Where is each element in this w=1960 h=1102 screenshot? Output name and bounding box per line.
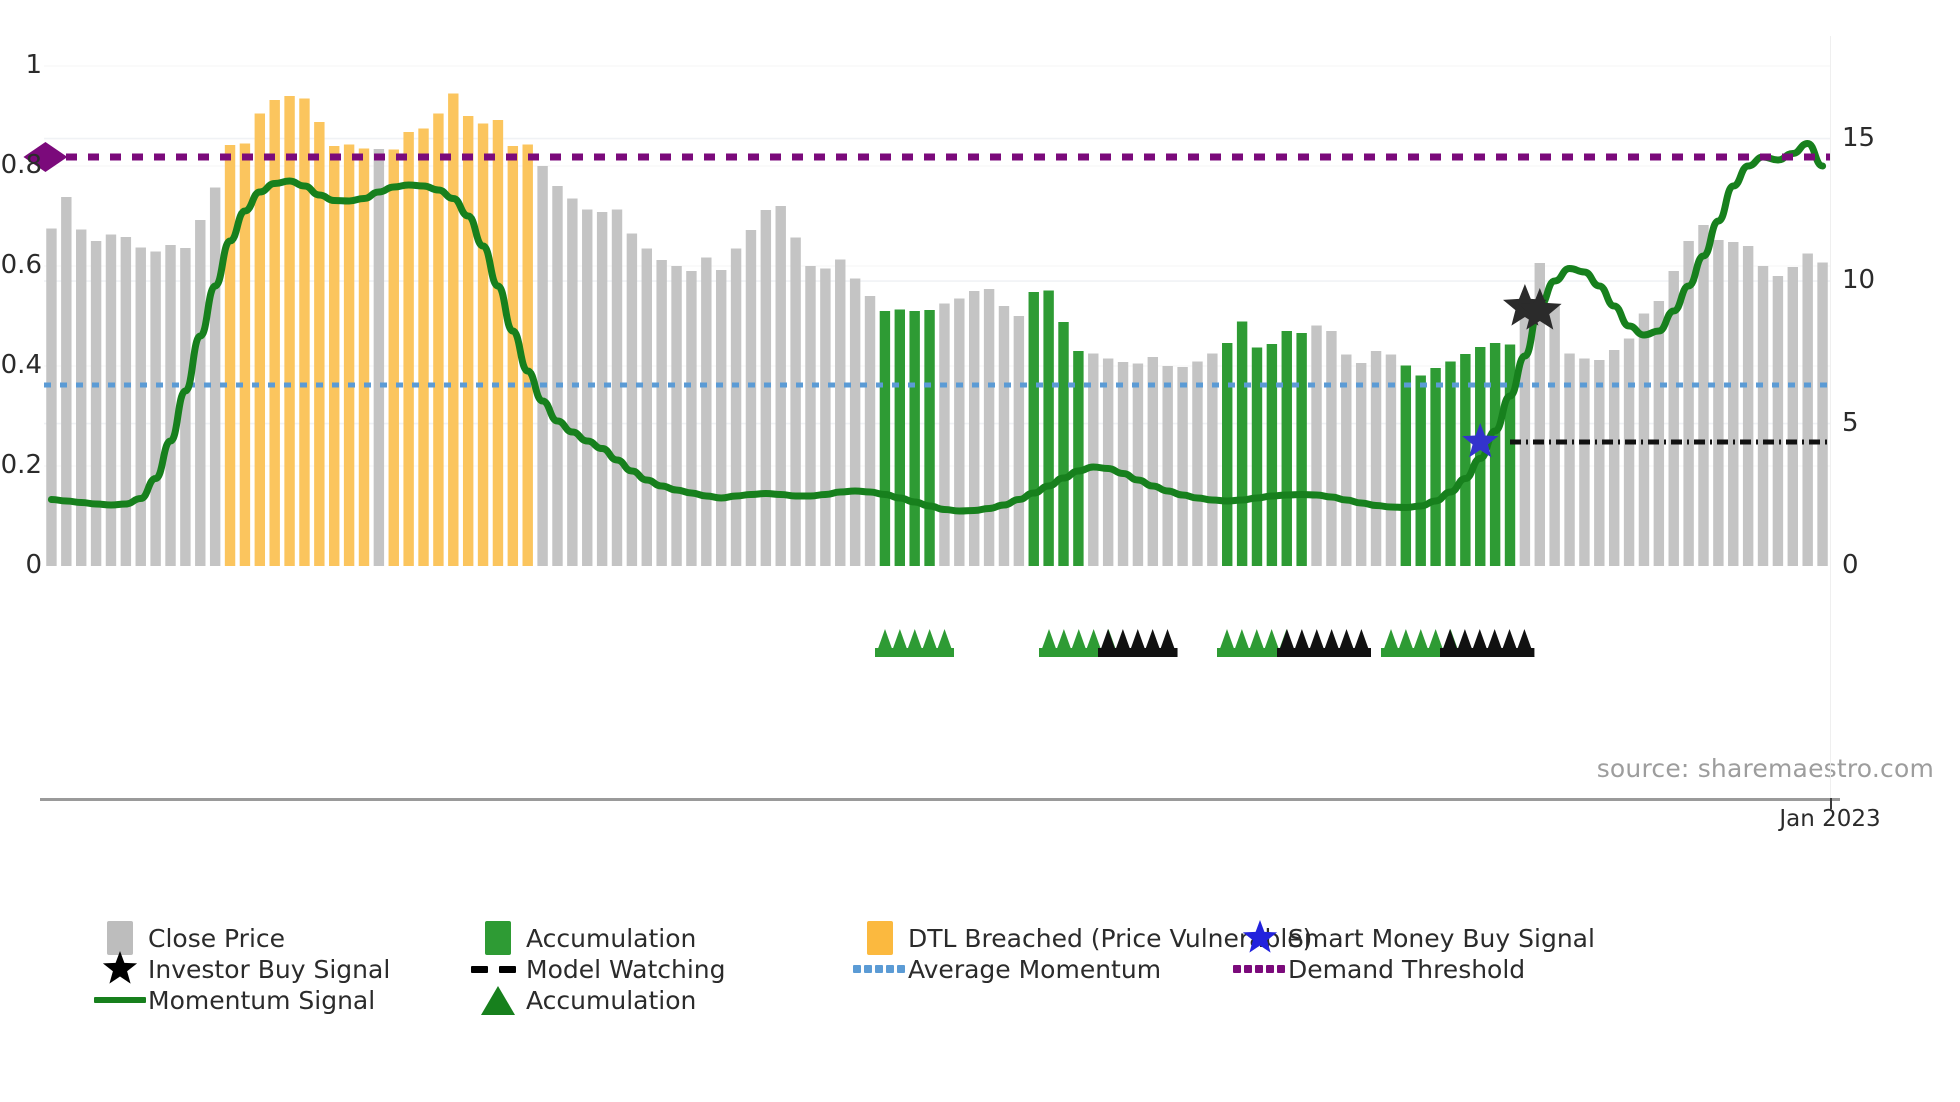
- price-bar: [1043, 291, 1053, 567]
- price-bar: [1267, 344, 1277, 566]
- price-bar: [761, 210, 771, 566]
- price-bar: [1058, 322, 1068, 566]
- price-bar: [850, 279, 860, 567]
- price-bar: [1743, 246, 1753, 566]
- y-axis-left-tick: 1: [0, 52, 42, 78]
- dotted-line-icon: [1232, 951, 1288, 987]
- price-bar: [656, 260, 666, 566]
- price-bar: [1579, 359, 1589, 567]
- price-bar: [1594, 360, 1604, 566]
- price-bar: [76, 230, 86, 567]
- price-bar: [1133, 364, 1143, 567]
- price-bar: [1624, 339, 1634, 567]
- price-bar: [269, 100, 279, 566]
- price-bar: [567, 199, 577, 567]
- price-bar: [731, 249, 741, 567]
- price-bar: [597, 212, 607, 566]
- price-bar: [746, 230, 756, 566]
- price-bar: [716, 270, 726, 566]
- price-bar: [418, 129, 428, 567]
- model-watching-triangle-group: [1098, 627, 1178, 661]
- price-bar: [136, 248, 146, 567]
- price-bar: [1609, 350, 1619, 566]
- price-bar: [1549, 306, 1559, 566]
- price-bar: [493, 120, 503, 566]
- price-bar: [820, 269, 830, 567]
- price-bar: [642, 249, 652, 567]
- price-bar: [225, 145, 235, 566]
- x-gridline: [1830, 36, 1831, 798]
- price-bar: [463, 116, 473, 566]
- model-watching-triangle-group: [1277, 627, 1371, 661]
- price-bar: [865, 296, 875, 566]
- y-axis-right-tick: 5: [1842, 410, 1859, 436]
- price-bar: [46, 229, 56, 567]
- y-axis-left-tick: 0.2: [0, 452, 42, 478]
- price-bar: [909, 311, 919, 566]
- price-bar: [329, 146, 339, 566]
- price-bar: [1802, 254, 1812, 567]
- y-axis-right-tick: 0: [1842, 552, 1859, 578]
- price-bar: [969, 291, 979, 566]
- price-bar: [121, 237, 131, 566]
- price-bar: [1029, 292, 1039, 566]
- y-axis-right-tick: 15: [1842, 125, 1875, 151]
- price-bar: [210, 188, 220, 567]
- price-bar: [880, 311, 890, 566]
- price-bar: [255, 114, 265, 567]
- chart-page: 00.20.40.60.81 051015 Jan 2023Jul 2023Ja…: [0, 0, 1960, 1102]
- price-bar: [389, 150, 399, 567]
- x-axis-tick-label: Jan 2023: [1779, 806, 1880, 832]
- price-bar: [895, 310, 905, 567]
- price-bar: [790, 238, 800, 567]
- price-bar: [552, 186, 562, 566]
- chart-svg: [44, 36, 1830, 566]
- y-axis-left-tick: 0.6: [0, 252, 42, 278]
- price-bar: [939, 304, 949, 567]
- price-bar: [1401, 366, 1411, 567]
- price-bar: [537, 166, 547, 566]
- price-bar: [299, 99, 309, 567]
- price-bar: [165, 245, 175, 566]
- plot-area: [44, 36, 1830, 566]
- price-bar: [150, 252, 160, 567]
- y-axis-left-tick: 0: [0, 552, 42, 578]
- price-bar: [1490, 343, 1500, 566]
- price-bar: [433, 114, 443, 567]
- price-bar: [1654, 301, 1664, 566]
- price-bar: [284, 96, 294, 566]
- price-bar: [344, 145, 354, 567]
- price-bar: [1148, 357, 1158, 566]
- price-bar: [403, 132, 413, 566]
- price-bar: [686, 271, 696, 566]
- price-bar: [1162, 366, 1172, 566]
- legend-label: Momentum Signal: [148, 986, 375, 1015]
- price-bar: [478, 124, 488, 567]
- price-bar: [1698, 225, 1708, 566]
- price-bar: [701, 258, 711, 567]
- price-bar: [627, 234, 637, 567]
- price-bar: [1177, 367, 1187, 566]
- price-bar: [374, 149, 384, 566]
- price-bar: [1728, 242, 1738, 566]
- price-bar: [1118, 362, 1128, 566]
- price-bar: [1296, 333, 1306, 566]
- dotted-line-icon: [852, 951, 908, 987]
- price-bar: [1356, 363, 1366, 566]
- price-bar: [582, 210, 592, 567]
- legend-demand-threshold[interactable]: Demand Threshold: [1232, 949, 1525, 989]
- x-axis-tick: [1830, 798, 1832, 809]
- legend-momentum-signal[interactable]: Momentum Signal: [92, 980, 375, 1020]
- price-bar: [999, 306, 1009, 566]
- price-bar: [359, 149, 369, 567]
- price-bar: [1430, 368, 1440, 566]
- y-axis-right-tick: 10: [1842, 267, 1875, 293]
- price-bar: [1252, 348, 1262, 567]
- price-bar: [508, 146, 518, 566]
- price-bar: [1311, 326, 1321, 567]
- price-bar: [1445, 362, 1455, 567]
- price-bar: [91, 241, 101, 566]
- price-bar: [1639, 314, 1649, 567]
- y-axis-left-tick: 0.8: [0, 152, 42, 178]
- price-bar: [1222, 343, 1232, 566]
- accumulation-triangle-group: [875, 627, 955, 661]
- price-bar: [1415, 376, 1425, 567]
- chart-legend: Close PriceAccumulationDTL Breached (Pri…: [0, 918, 1960, 1088]
- price-bar: [1758, 266, 1768, 566]
- legend-accumulation-triangle[interactable]: Accumulation: [470, 980, 696, 1020]
- price-bar: [1103, 359, 1113, 567]
- price-bar: [448, 94, 458, 567]
- price-bar: [671, 266, 681, 566]
- line-icon: [92, 982, 148, 1018]
- triangle-icon: [470, 982, 526, 1018]
- price-bar: [61, 197, 71, 566]
- legend-label: Accumulation: [526, 986, 696, 1015]
- price-bar: [314, 122, 324, 566]
- price-bar: [1014, 316, 1024, 566]
- price-bar: [1326, 331, 1336, 566]
- price-bar: [195, 220, 205, 566]
- price-bar: [612, 210, 622, 567]
- price-bar: [805, 266, 815, 566]
- price-bar: [1773, 276, 1783, 566]
- price-bar: [954, 299, 964, 567]
- source-note: source: sharemaestro.com: [1597, 754, 1934, 783]
- legend-average-momentum[interactable]: Average Momentum: [852, 949, 1161, 989]
- price-bar: [1192, 362, 1202, 567]
- price-bar: [835, 260, 845, 567]
- price-bar: [1713, 240, 1723, 566]
- model-watching-triangle-group: [1440, 627, 1534, 661]
- price-bar: [924, 310, 934, 566]
- price-bar: [1282, 331, 1292, 566]
- legend-label: Average Momentum: [908, 955, 1161, 984]
- x-axis-line: [40, 798, 1840, 801]
- price-bar: [984, 289, 994, 566]
- price-bar: [1788, 267, 1798, 566]
- legend-label: Demand Threshold: [1288, 955, 1525, 984]
- price-bar: [1237, 322, 1247, 567]
- price-bar: [106, 235, 116, 567]
- y-axis-left-tick: 0.4: [0, 352, 42, 378]
- price-bar: [1817, 263, 1827, 567]
